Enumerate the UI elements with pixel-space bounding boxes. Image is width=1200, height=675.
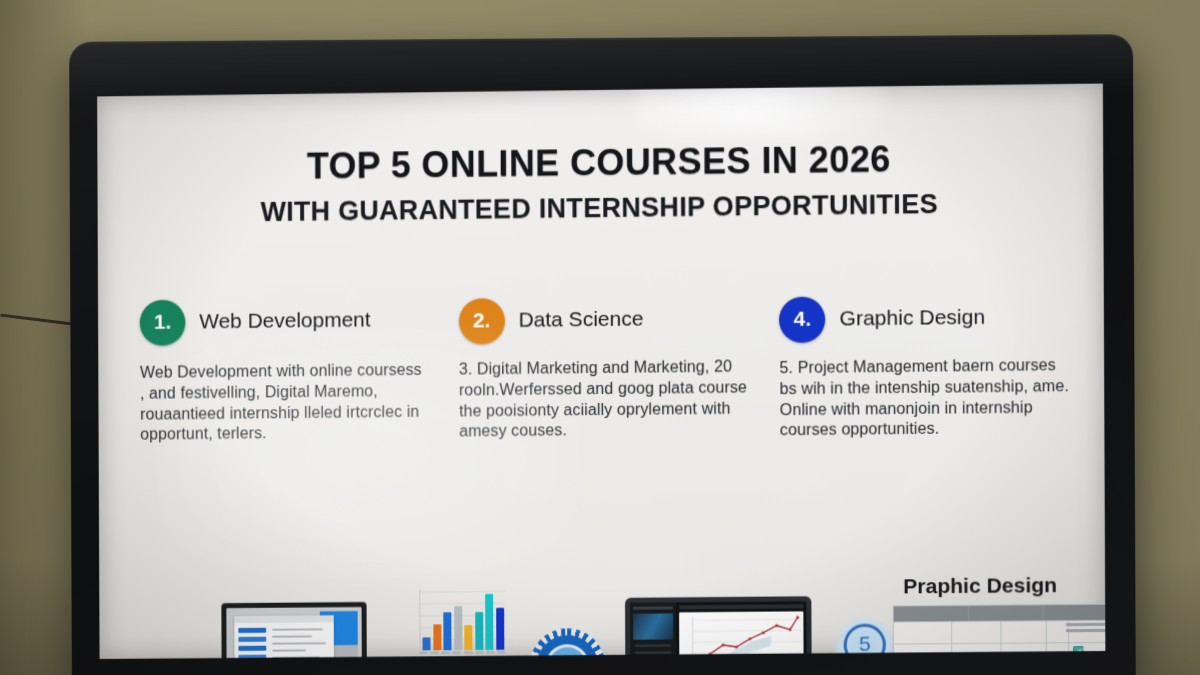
course-body-1: Web Development with online coursess , a… — [140, 361, 427, 447]
window-content-lines — [272, 628, 329, 659]
course-title-2: Data Science — [518, 308, 643, 333]
laptop-app-sidebar — [630, 602, 676, 659]
table-row — [894, 620, 1106, 644]
monitor-device: TOP 5 ONLINE COURSES IN 2026 WITH GUARAN… — [69, 34, 1136, 675]
course-item-1: 1. Web Development Web Development with … — [140, 297, 428, 449]
page-title: TOP 5 ONLINE COURSES IN 2026 — [97, 136, 1103, 190]
window-sidebar — [238, 628, 266, 659]
course-header-1: 1. Web Development — [140, 297, 427, 346]
gear-badge-icon — [529, 628, 605, 659]
course-item-2: 2. Data Science 3. Digital Marketing and… — [459, 293, 748, 445]
magnifier-icon: 5 — [834, 616, 897, 659]
screen-glare — [635, 83, 886, 139]
bar-chart-bars — [422, 592, 504, 651]
illustration-strip: 5 Praphic Design — [99, 556, 1105, 659]
table-cell-stub — [1066, 623, 1105, 635]
course-title-1: Web Development — [199, 309, 370, 335]
slide-headings: TOP 5 ONLINE COURSES IN 2026 WITH GUARAN… — [97, 136, 1103, 230]
table-cell-line — [1089, 651, 1105, 652]
table-column-header — [1044, 605, 1105, 621]
line-chart-svg — [679, 611, 804, 659]
course-number-badge-3: 4. — [779, 296, 825, 343]
page-subtitle: WITH GUARANTEED INTERNSHIP OPPORTUNITIES — [98, 187, 1104, 230]
sidebar-thumbnail — [633, 613, 673, 639]
course-number-badge-1: 1. — [140, 300, 186, 346]
table-row: ✔ — [894, 642, 1105, 659]
laptop-screen — [630, 601, 807, 659]
table-column-header — [894, 606, 969, 622]
course-header-2: 2. Data Science — [459, 295, 748, 344]
course-title-3: Graphic Design — [840, 306, 986, 332]
course-columns: 1. Web Development Web Development with … — [140, 290, 1071, 449]
checkbox-checked[interactable]: ✔ — [1073, 646, 1084, 657]
bar-chart-x-labels — [420, 651, 506, 659]
course-body-3: 5. Project Management baern courses bs w… — [780, 356, 1071, 442]
magnifier-number: 5 — [844, 624, 886, 659]
table-header-row — [894, 605, 1106, 622]
course-number-badge-2: 2. — [459, 298, 505, 344]
table-column-header — [969, 605, 1044, 621]
presentation-slide: TOP 5 ONLINE COURSES IN 2026 WITH GUARAN… — [97, 83, 1105, 658]
course-body-2: 3. Digital Marketing and Marketing, 20 r… — [459, 357, 748, 443]
desktop-mockup-icon — [221, 602, 367, 659]
bar-chart-illustration — [409, 589, 505, 659]
laptop-app-toolbar — [679, 604, 803, 609]
window-titlebar — [234, 615, 333, 623]
desktop-screen — [221, 602, 367, 659]
course-item-3: 4. Graphic Design 5. Project Management … — [779, 290, 1070, 443]
laptop-app-main — [676, 601, 807, 659]
desktop-wallpaper — [226, 607, 362, 659]
laptop-lid — [625, 596, 812, 659]
desktop-window — [234, 615, 334, 659]
laptop-mockup-icon — [620, 596, 817, 659]
illustration-heading: Praphic Design — [859, 574, 1101, 600]
sidebar-title-bar — [633, 606, 673, 609]
course-header-3: 4. Graphic Design — [779, 294, 1069, 343]
checklist-table: ✔ ✔ ✔ — [893, 604, 1106, 659]
laptop-line-chart — [679, 611, 804, 659]
